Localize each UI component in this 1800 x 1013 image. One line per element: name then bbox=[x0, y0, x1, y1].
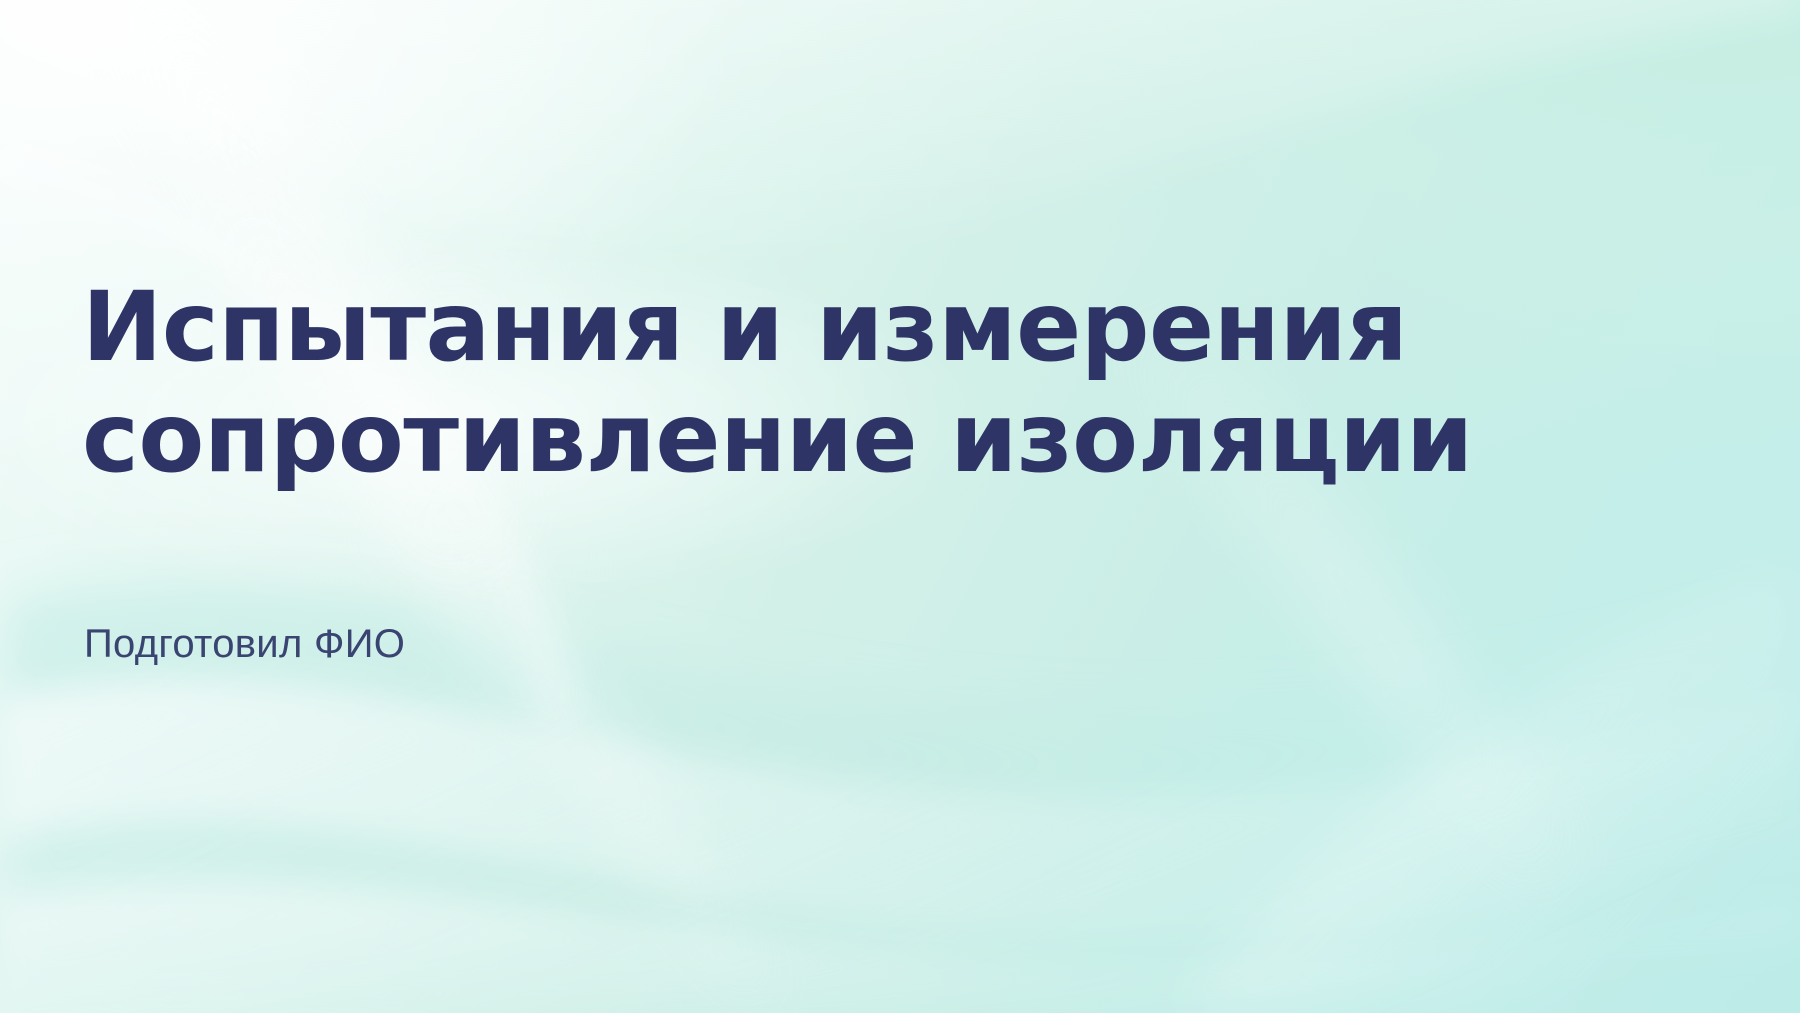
slide-content: Испытания и измерения сопротивление изол… bbox=[82, 0, 1532, 1013]
slide-title: Испытания и измерения сопротивление изол… bbox=[82, 272, 1522, 495]
title-slide: Испытания и измерения сопротивление изол… bbox=[0, 0, 1800, 1013]
slide-subtitle-author: Подготовил ФИО bbox=[84, 618, 405, 670]
